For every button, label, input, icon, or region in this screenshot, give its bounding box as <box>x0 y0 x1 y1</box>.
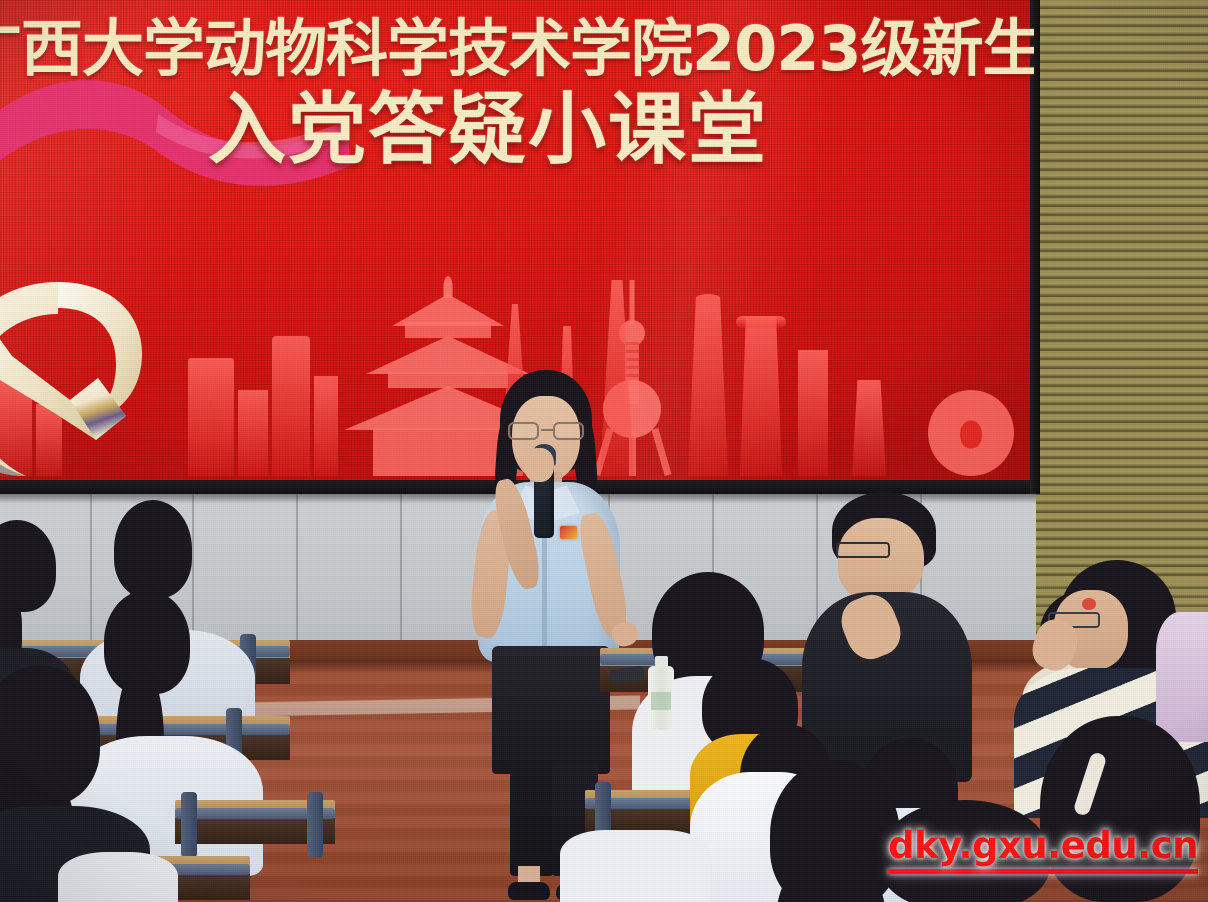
hair-accessory <box>1082 598 1096 610</box>
banner-line-1: 广西大学动物科学技术学院2023级新生 <box>0 16 988 83</box>
speaker-shoe <box>508 882 550 900</box>
shanghai-tower-silhouette <box>688 294 728 476</box>
site-watermark: dky.gxu.edu.cn <box>888 827 1198 874</box>
cpc-hammer-sickle-emblem <box>0 268 230 483</box>
banner-headline: 广西大学动物科学技术学院2023级新生 入党答疑小课堂 <box>0 16 988 174</box>
wooden-slat-wall-right <box>1032 0 1208 640</box>
watermark-underline <box>888 869 1198 874</box>
speaker-trousers <box>492 646 610 774</box>
banner-line-2: 入党答疑小课堂 <box>0 87 988 174</box>
eyeglasses <box>508 422 586 440</box>
eyeglasses <box>836 542 890 558</box>
speaker-hand <box>524 448 554 482</box>
party-badge <box>560 526 577 539</box>
jinmao-tower-silhouette <box>798 350 828 476</box>
photograph-scene: 广西大学动物科学技术学院2023级新生 入党答疑小课堂 <box>0 0 1208 902</box>
guangzhou-circle-silhouette <box>928 390 1014 476</box>
bench-row <box>175 800 335 846</box>
swfc-silhouette <box>740 316 782 476</box>
watermark-text: dky.gxu.edu.cn <box>888 827 1198 864</box>
water-bottle <box>648 666 674 730</box>
